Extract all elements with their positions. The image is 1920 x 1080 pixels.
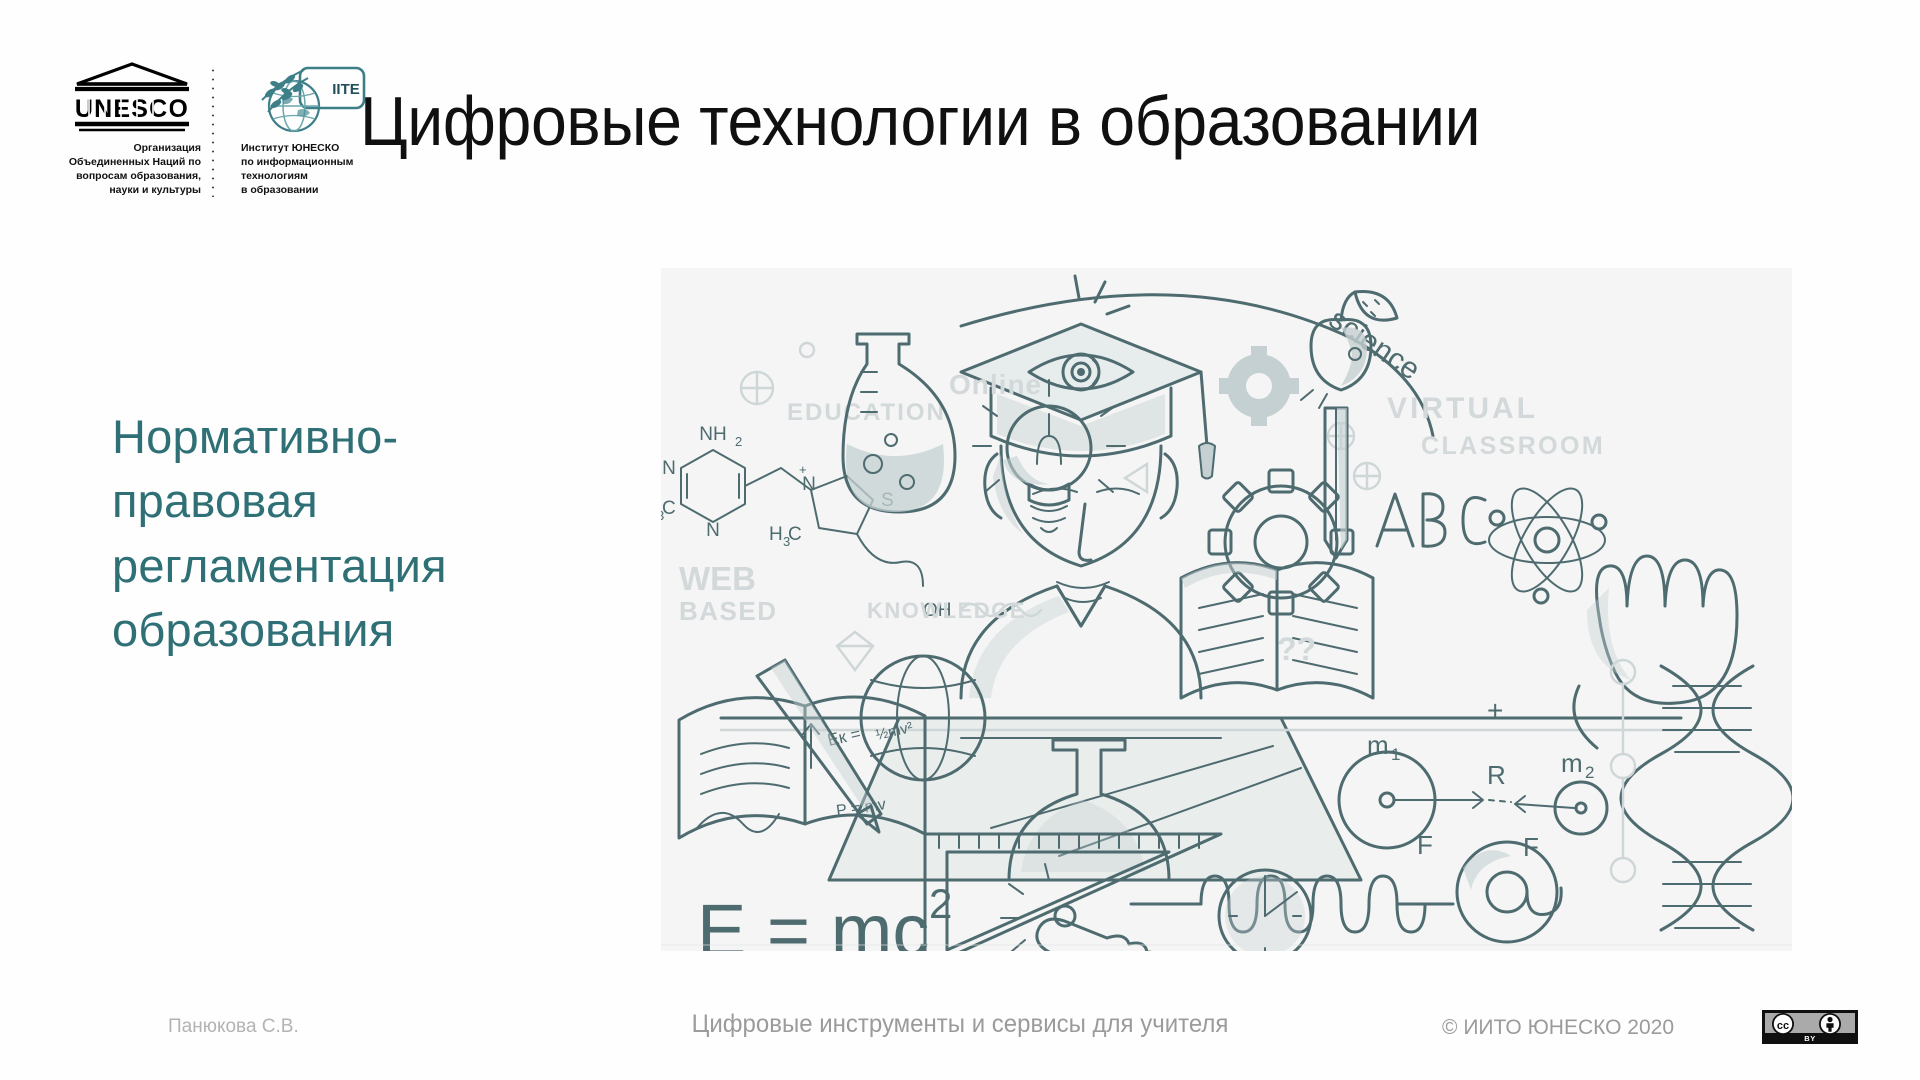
svg-text:IITE: IITE [332,81,360,98]
iite-caption-line: в образовании [241,184,373,198]
svg-text:UNESCO: UNESCO [75,95,189,123]
logo-block: UNESCO Организация Объединенных Наций по [62,62,382,197]
svg-text:1: 1 [1391,745,1400,764]
svg-text:N: N [662,458,676,479]
svg-text:NH: NH [699,424,726,445]
unesco-caption-line: вопросам образования, [63,170,201,184]
svg-text:F: F [1523,832,1539,862]
svg-text:m: m [1561,748,1583,778]
label-virtual: VIRTUAL [1387,392,1538,425]
iite-logo-caption: Институт ЮНЕСКО по информационным технол… [241,142,373,197]
footer-copyright: © ИИТО ЮНЕСКО 2020 [1442,1016,1674,1040]
unesco-caption-line: Объединенных Наций по [63,156,201,170]
illustration-panel: .ln { fill:none; stroke:#4e6b70; stroke-… [661,268,1792,951]
label-question-marks: ?? [1277,631,1316,667]
svg-text:F: F [1417,830,1433,860]
slide-footer: Панюкова С.В. Цифровые инструменты и сер… [0,1008,1920,1060]
label-classroom: CLASSROOM [1421,432,1605,460]
label-online: Online [949,369,1042,400]
iite-caption-line: Институт ЮНЕСКО [241,142,373,156]
slide-title: Цифровые технологии в образовании [360,86,1740,156]
svg-text:R: R [1487,760,1506,790]
svg-text:N: N [802,474,816,495]
svg-text:+: + [1487,695,1503,726]
svg-text:N: N [706,520,720,541]
unesco-temple-icon: UNESCO [69,62,195,134]
unesco-logo-caption: Организация Объединенных Наций по вопрос… [63,142,201,197]
svg-text:cc: cc [1777,1020,1789,1032]
compass-dial [1219,870,1311,951]
iite-caption-line: технологиям [241,170,373,184]
svg-text:3: 3 [661,508,664,523]
formula-emc2: E = mc 2 [697,880,952,951]
svg-text:m: m [1367,730,1389,760]
label-web: WEB [679,560,756,597]
svg-text:2: 2 [1585,763,1594,782]
iite-logo: IITE [214,62,382,197]
svg-text:BY: BY [1804,1034,1816,1043]
iite-globe-icon: IITE [242,62,372,134]
cc-by-badge[interactable]: cc BY [1762,1010,1858,1044]
svg-text:2: 2 [735,434,742,449]
unesco-caption-line: Организация [63,142,201,156]
iite-caption-line: по информационным [241,156,373,170]
label-based: BASED [679,596,778,626]
svg-text:3: 3 [783,534,790,549]
svg-text:E = mc: E = mc [697,889,929,951]
education-doodle-illustration: .ln { fill:none; stroke:#4e6b70; stroke-… [661,268,1792,951]
unesco-logo: UNESCO Организация Объединенных Наций по [62,62,202,197]
svg-text:+: + [799,462,807,477]
slide-subtitle: Нормативно-правовая регламентация образо… [112,405,532,663]
svg-text:2: 2 [929,880,952,927]
unesco-caption-line: науки и культуры [63,184,201,198]
label-knowledge: KNOWLEDGE [867,598,1026,623]
